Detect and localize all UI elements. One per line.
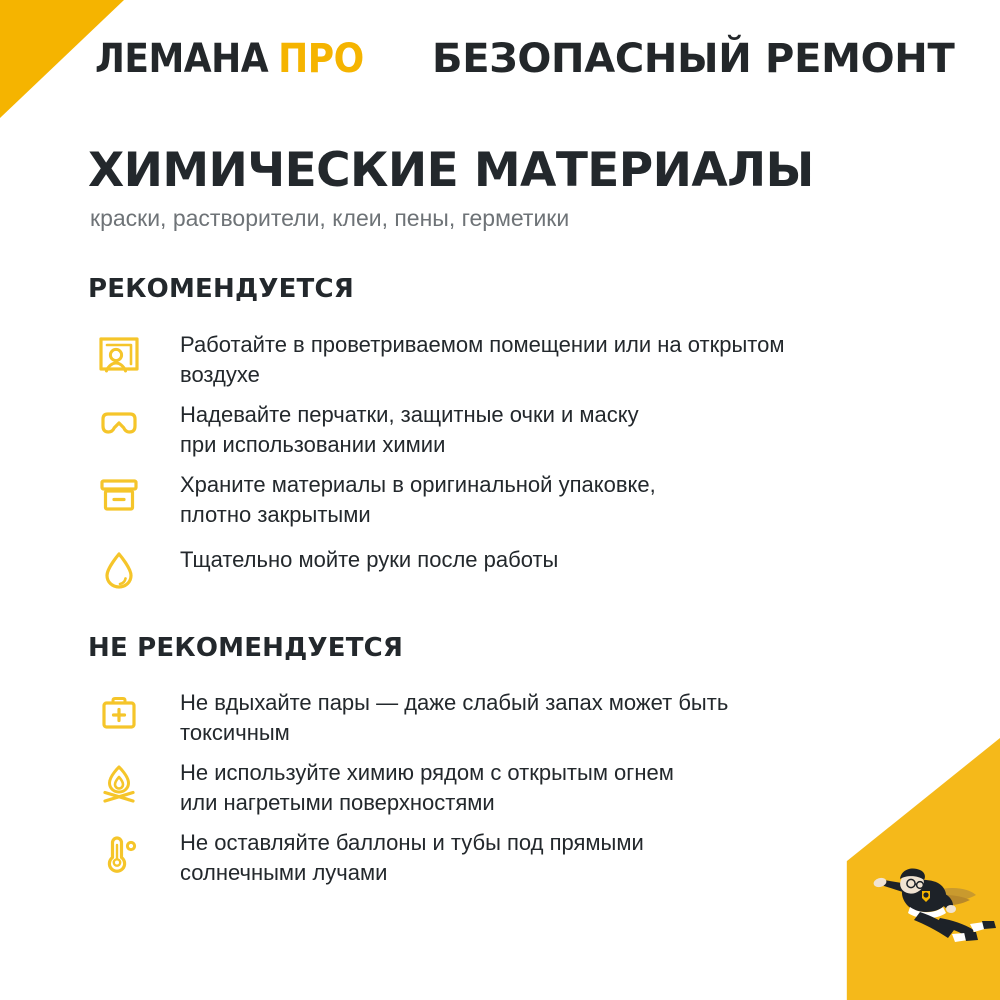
list-item-line2: воздухе [180,360,784,390]
list-item-text: Не оставляйте баллоны и тубы под прямыми… [150,828,644,888]
list-item-protective-gear: Надевайте перчатки, защитные очки и маск… [88,400,908,460]
list-item-line1: Не используйте химию рядом с открытым ог… [180,760,674,785]
list-item-text: Работайте в проветриваемом помещении или… [150,330,784,390]
list-item-line1: Храните материалы в оригинальной упаковк… [180,472,656,497]
ventilated-room-icon [88,330,150,378]
header-title: БЕЗОПАСНЫЙ РЕМОНТ [432,36,954,82]
list-item-line2: плотно закрытыми [180,500,656,530]
list-item-line2: токсичным [180,718,728,748]
list-item-text: Не используйте химию рядом с открытым ог… [150,758,674,818]
list-item-line2: или нагретыми поверхностями [180,788,674,818]
campfire-icon [88,758,150,806]
header: ЛЕМАНАПРО БЕЗОПАСНЫЙ РЕМОНТ [0,34,1000,94]
storage-box-icon [88,470,150,518]
water-drop-icon [88,545,150,593]
page-title: ХИМИЧЕСКИЕ МАТЕРИАЛЫ [88,145,814,197]
poster-canvas: ЛЕМАНАПРО БЕЗОПАСНЫЙ РЕМОНТ ХИМИЧЕСКИЕ М… [0,0,1000,1000]
section-heading-not-recommended: НЕ РЕКОМЕНДУЕТСЯ [88,633,403,663]
list-item-line1: Работайте в проветриваемом помещении или… [180,332,784,357]
first-aid-kit-icon [88,688,150,736]
list-item-text: Храните материалы в оригинальной упаковк… [150,470,656,530]
list-item-text: Не вдыхайте пары — даже слабый запах мож… [150,688,728,748]
list-item-ventilation: Работайте в проветриваемом помещении или… [88,330,908,390]
list-item-line1: Не оставляйте баллоны и тубы под прямыми [180,830,644,855]
list-item-no-direct-sun: Не оставляйте баллоны и тубы под прямыми… [88,828,908,888]
list-item-line2: при использовании химии [180,430,639,460]
logo-lemana-text: ЛЕМАНА [95,36,268,82]
logo-pro-text: ПРО [278,36,364,82]
flying-superhero-mascot [848,862,1000,972]
brand-logo: ЛЕМАНАПРО [95,36,364,82]
list-item-text: Тщательно мойте руки после работы [150,545,558,575]
thermometer-sun-icon [88,828,150,876]
list-item-line1: Тщательно мойте руки после работы [180,547,558,572]
list-item-line2: солнечными лучами [180,858,644,888]
page-subtitle: краски, растворители, клеи, пены, гермет… [90,204,569,232]
list-item-no-open-flame: Не используйте химию рядом с открытым ог… [88,758,908,818]
list-item-wash-hands: Тщательно мойте руки после работы [88,545,908,593]
safety-goggles-icon [88,400,150,448]
list-item-line1: Надевайте перчатки, защитные очки и маск… [180,402,639,427]
list-item-line1: Не вдыхайте пары — даже слабый запах мож… [180,690,728,715]
list-item-storage: Храните материалы в оригинальной упаковк… [88,470,908,530]
section-heading-recommended: РЕКОМЕНДУЕТСЯ [88,274,354,304]
list-item-text: Надевайте перчатки, защитные очки и маск… [150,400,639,460]
list-item-no-inhale: Не вдыхайте пары — даже слабый запах мож… [88,688,908,748]
